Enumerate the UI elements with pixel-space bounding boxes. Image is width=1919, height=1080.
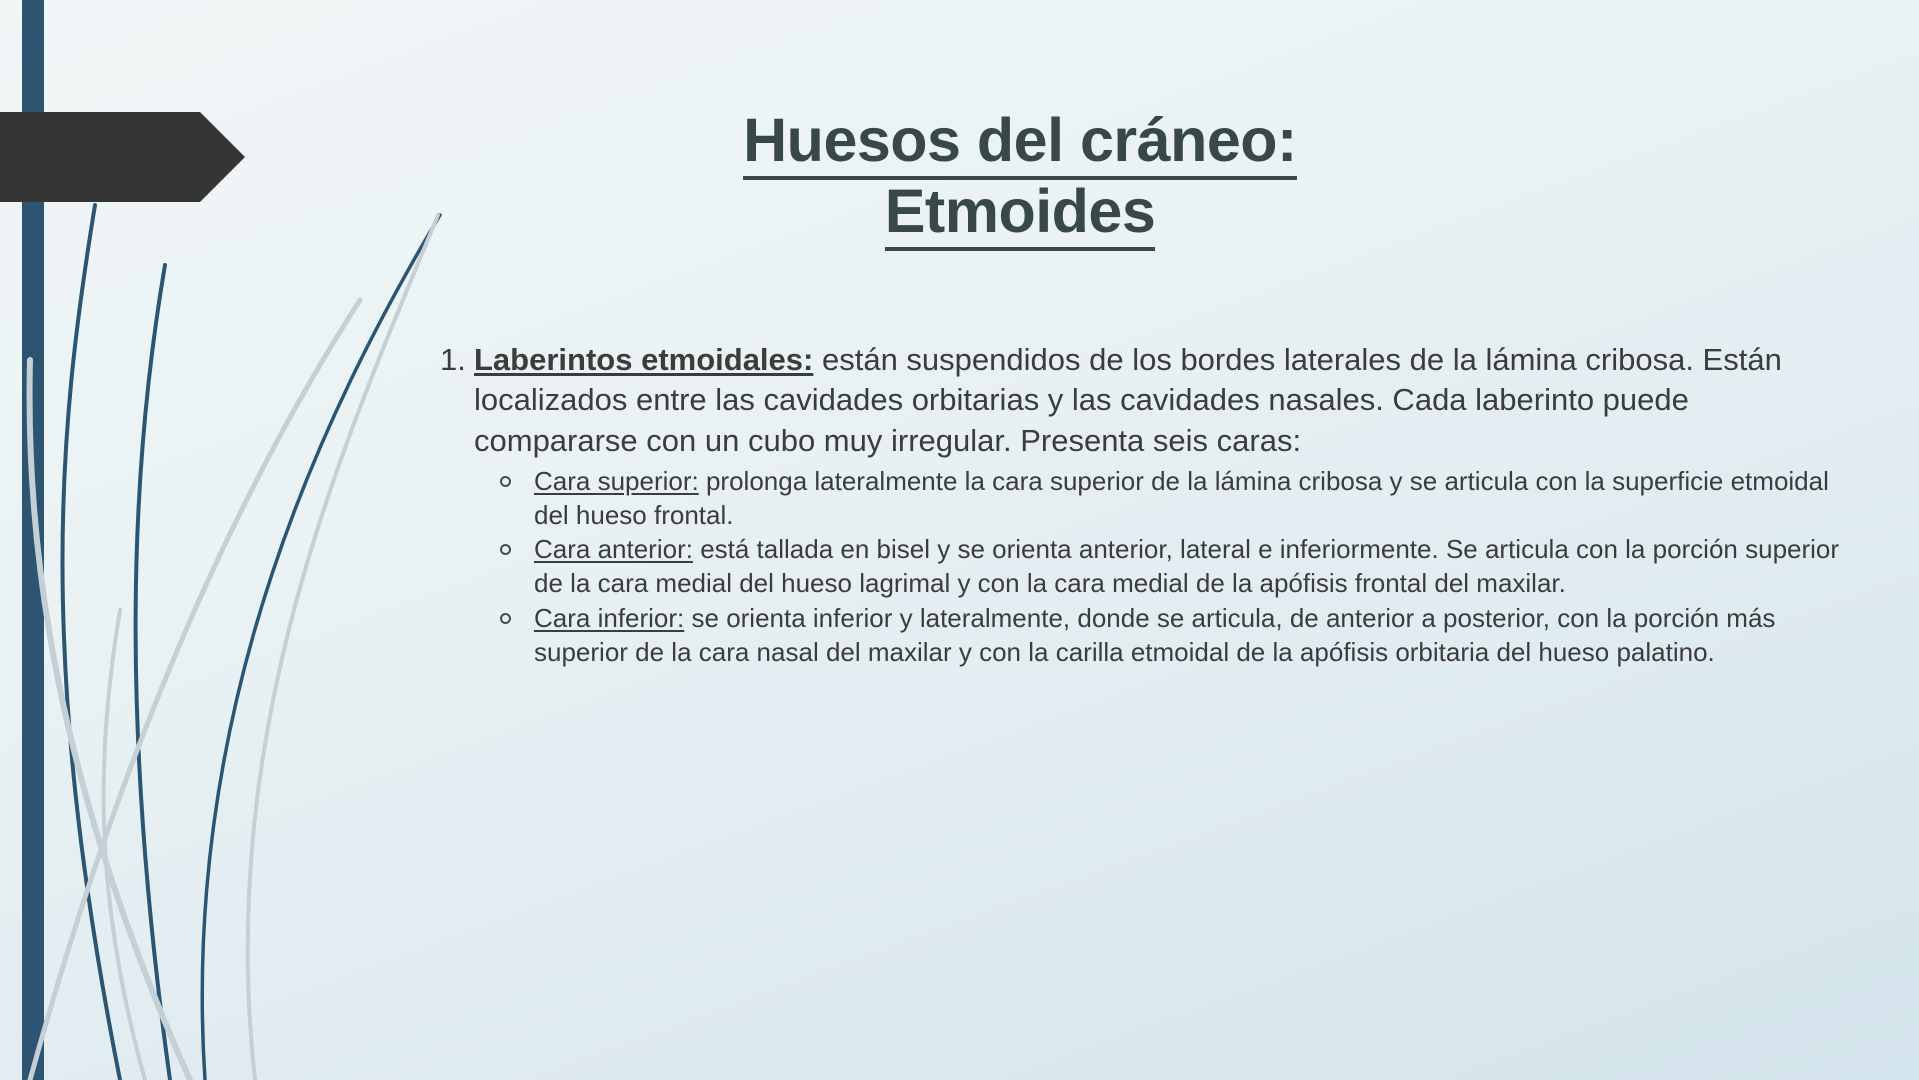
hollow-circle-icon — [500, 476, 511, 487]
numbered-list: 1. Laberintos etmoidales: están suspendi… — [440, 340, 1840, 670]
sub-item-lead: Cara inferior: — [534, 603, 684, 633]
sub-item-text: prolonga lateralmente la cara superior d… — [534, 466, 1829, 530]
presentation-slide: Huesos del cráneo: Etmoides 1. Laberinto… — [0, 0, 1919, 1080]
list-item: Cara anterior: está tallada en bisel y s… — [474, 533, 1840, 601]
title-line-2: Etmoides — [460, 176, 1580, 247]
sub-bullet-list: Cara superior: prolonga lateralmente la … — [474, 465, 1840, 670]
hollow-circle-icon — [500, 613, 511, 624]
sub-item-text: se orienta inferior y lateralmente, dond… — [534, 603, 1775, 667]
list-item: Cara inferior: se orienta inferior y lat… — [474, 602, 1840, 670]
sub-item-lead: Cara anterior: — [534, 534, 693, 564]
list-item-lead: Laberintos etmoidales: — [474, 342, 813, 377]
list-item: Cara superior: prolonga lateralmente la … — [474, 465, 1840, 533]
slide-content: Huesos del cráneo: Etmoides 1. Laberinto… — [0, 0, 1919, 1080]
page-title: Huesos del cráneo: Etmoides — [460, 105, 1580, 247]
list-item-number: 1. — [440, 340, 466, 380]
list-item: 1. Laberintos etmoidales: están suspendi… — [440, 340, 1840, 670]
sub-item-lead: Cara superior: — [534, 466, 699, 496]
body-text-block: 1. Laberintos etmoidales: están suspendi… — [440, 340, 1840, 671]
hollow-circle-icon — [500, 544, 511, 555]
sub-item-text: está tallada en bisel y se orienta anter… — [534, 534, 1839, 598]
title-line-1: Huesos del cráneo: — [460, 105, 1580, 176]
